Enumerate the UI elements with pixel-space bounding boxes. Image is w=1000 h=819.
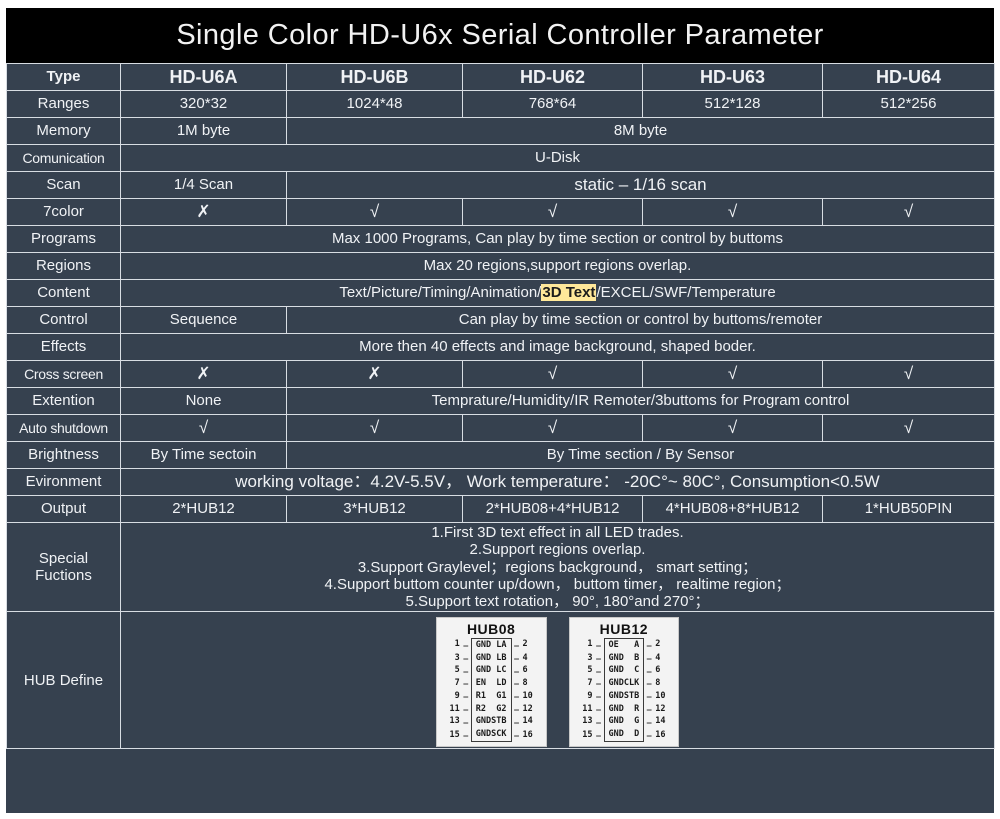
hub12-pin-num-right: 4 [654,654,672,664]
hub12-lead-right-icon: — [644,641,654,650]
cell-brightness-first: By Time sectoin [121,442,287,469]
cell-cross-1: ✗ [287,361,463,388]
table-row-content: Content Text/Picture/Timing/Animation/3D… [7,280,995,307]
hub12-signal-right: G [624,716,644,729]
cell-programs-all: Max 1000 Programs, Can play by time sect… [121,226,995,253]
table-row-scan: Scan 1/4 Scan static – 1/16 scan [7,172,995,199]
hub12-pin-num-right: 8 [654,679,672,689]
table-row-cross-screen: Cross screen ✗ ✗ √ √ √ [7,361,995,388]
hub08-lead-right-icon: — [512,692,522,701]
row-label-brightness: Brightness [7,442,121,469]
row-label-extention: Extention [7,388,121,415]
table-row-auto-shutdown: Auto shutdown √ √ √ √ √ [7,415,995,442]
hub08-pin-num-right: 12 [522,705,540,715]
hub12-title: HUB12 [600,621,648,637]
hub12-signal-left: GND [604,665,624,678]
cell-control-rest: Can play by time section or control by b… [287,307,995,334]
hub08-pin-num-right: 6 [522,666,540,676]
cell-cross-3: √ [643,361,823,388]
cell-comunication-all: U-Disk [121,145,995,172]
hub08-lead-left-icon: — [461,718,471,727]
cell-cross-4: √ [823,361,995,388]
hub08-signal-right: SCK [491,729,511,743]
hub08-pin-num-right: 8 [522,679,540,689]
hub08-lead-left-icon: — [461,692,471,701]
hub08-pin-num-left: 13 [443,717,461,727]
table-row-effects: Effects More then 40 effects and image b… [7,334,995,361]
row-label-auto-shutdown: Auto shutdown [7,415,121,442]
hub12-signal-right: B [624,652,644,665]
row-label-cross-screen: Cross screen [7,361,121,388]
table-row-evironment: Evironment working voltage：4.2V-5.5V， Wo… [7,469,995,496]
hub08-signal-left: GND [471,652,491,665]
row-label-ranges: Ranges [7,91,121,118]
row-label-programs: Programs [7,226,121,253]
hub08-signal-right: STB [491,716,511,729]
hub08-lead-left-icon: — [461,667,471,676]
row-label-output: Output [7,496,121,523]
cell-regions-all: Max 20 regions,support regions overlap. [121,253,995,280]
special-line-3: 3.Support Graylevel；regions background， … [124,559,991,576]
hub08-lead-right-icon: — [512,654,522,663]
hub08-pin-num-right: 10 [522,692,540,702]
hub08-lead-left-icon: — [461,705,471,714]
hub08-lead-right-icon: — [512,667,522,676]
hub12-pin-num-right: 12 [654,705,672,715]
table-row-type: Type HD-U6A HD-U6B HD-U62 HD-U63 HD-U64 [7,64,995,91]
hub12-lead-right-icon: — [644,667,654,676]
cell-7color-2: √ [463,199,643,226]
cell-auto-0: √ [121,415,287,442]
hub12-lead-left-icon: — [594,641,604,650]
hub08-pin-num-left: 3 [443,654,461,664]
page-title: Single Color HD-U6x Serial Controller Pa… [176,19,823,52]
cell-7color-4: √ [823,199,995,226]
table-row-programs: Programs Max 1000 Programs, Can play by … [7,226,995,253]
hub08-pin-num-left: 5 [443,666,461,676]
hub12-signal-left: GND [604,716,624,729]
hub08-title: HUB08 [467,621,515,637]
hub12-signal-left: GND [604,652,624,665]
cell-output-4: 1*HUB50PIN [823,496,995,523]
hub12-pin-num-left: 11 [576,705,594,715]
table-row-brightness: Brightness By Time sectoin By Time secti… [7,442,995,469]
row-label-regions: Regions [7,253,121,280]
cell-output-0: 2*HUB12 [121,496,287,523]
table-row-hub-define: HUB Define HUB08 1—GNDLA—2 3—GNDLB—4 5—G… [7,612,995,749]
hub12-lead-right-icon: — [644,731,654,740]
hub-diagrams: HUB08 1—GNDLA—2 3—GNDLB—4 5—GNDLC—6 7—EN… [124,613,991,747]
hub12-pin-num-left: 13 [576,717,594,727]
hub08-signal-left: GND [471,638,491,652]
hub08-signal-right: LC [491,665,511,678]
special-line-1: 1.First 3D text effect in all LED trades… [124,524,991,541]
row-label-hub-define: HUB Define [7,612,121,749]
hub08-signal-right: LD [491,678,511,691]
hub08-signal-left: GND [471,665,491,678]
cell-control-first: Sequence [121,307,287,334]
hub12-pin-grid: 1—OEA—2 3—GNDB—4 5—GNDC—6 7—GNDCLK—8 9—G… [576,638,673,742]
hub12-pin-num-right: 2 [654,640,672,650]
hub08-lead-right-icon: — [512,679,522,688]
hub08-pin-num-right: 4 [522,654,540,664]
hub08-signal-right: G2 [491,703,511,716]
special-label-line2: Fuctions [10,567,117,584]
content-prefix: Text/Picture/Timing/Animation/ [339,284,541,301]
hub08-lead-right-icon: — [512,705,522,714]
hub08-pin-num-left: 15 [443,731,461,741]
hub08-signal-right: G1 [491,690,511,703]
hub08-lead-right-icon: — [512,641,522,650]
table-row-ranges: Ranges 320*32 1024*48 768*64 512*128 512… [7,91,995,118]
table-row-special-fuctions: Special Fuctions 1.First 3D text effect … [7,523,995,612]
cell-type-1: HD-U6B [287,64,463,91]
cell-ranges-4: 512*256 [823,91,995,118]
row-label-7color: 7color [7,199,121,226]
hub12-signal-right: C [624,665,644,678]
content-suffix: /EXCEL/SWF/Temperature [596,284,775,301]
cell-special-fuctions: 1.First 3D text effect in all LED trades… [121,523,995,612]
hub12-pin-num-right: 14 [654,717,672,727]
cell-auto-2: √ [463,415,643,442]
row-label-special-fuctions: Special Fuctions [7,523,121,612]
hub08-pin-num-right: 2 [522,640,540,650]
hub12-signal-left: GND [604,690,624,703]
hub08-signal-left: GND [471,729,491,743]
cell-cross-2: √ [463,361,643,388]
cell-type-0: HD-U6A [121,64,287,91]
cell-7color-3: √ [643,199,823,226]
cell-scan-rest: static – 1/16 scan [287,172,995,199]
cell-extention-rest: Temprature/Humidity/IR Remoter/3buttoms … [287,388,995,415]
table-row-memory: Memory 1M byte 8M byte [7,118,995,145]
cell-cross-0: ✗ [121,361,287,388]
cell-memory-rest: 8M byte [287,118,995,145]
hub08-diagram: HUB08 1—GNDLA—2 3—GNDLB—4 5—GNDLC—6 7—EN… [436,617,547,747]
cell-output-1: 3*HUB12 [287,496,463,523]
hub12-signal-left: GND [604,703,624,716]
hub08-pin-num-right: 14 [522,717,540,727]
hub12-lead-left-icon: — [594,718,604,727]
hub12-pin-num-left: 15 [576,731,594,741]
hub08-pin-num-left: 1 [443,640,461,650]
cell-scan-first: 1/4 Scan [121,172,287,199]
hub12-signal-right: A [624,638,644,652]
cell-memory-first: 1M byte [121,118,287,145]
hub12-pin-num-left: 9 [576,692,594,702]
cell-output-3: 4*HUB08+8*HUB12 [643,496,823,523]
hub12-diagram: HUB12 1—OEA—2 3—GNDB—4 5—GNDC—6 7—GNDCLK… [569,617,680,747]
hub08-lead-right-icon: — [512,731,522,740]
hub12-pin-num-left: 3 [576,654,594,664]
hub08-signal-right: LA [491,638,511,652]
hub12-lead-left-icon: — [594,731,604,740]
cell-type-3: HD-U63 [643,64,823,91]
cell-ranges-2: 768*64 [463,91,643,118]
hub08-signal-left: R1 [471,690,491,703]
cell-hub-define: HUB08 1—GNDLA—2 3—GNDLB—4 5—GNDLC—6 7—EN… [121,612,995,749]
row-label-memory: Memory [7,118,121,145]
hub08-pin-num-right: 16 [522,731,540,741]
hub12-signal-right: CLK [624,678,644,691]
hub12-pin-num-left: 7 [576,679,594,689]
hub12-signal-right: R [624,703,644,716]
cell-extention-first: None [121,388,287,415]
title-bar: Single Color HD-U6x Serial Controller Pa… [6,8,994,63]
hub08-lead-left-icon: — [461,654,471,663]
spec-frame: Single Color HD-U6x Serial Controller Pa… [6,8,994,813]
special-line-4: 4.Support buttom counter up/down， buttom… [124,576,991,593]
hub08-signal-left: R2 [471,703,491,716]
hub12-pin-num-left: 1 [576,640,594,650]
cell-7color-1: √ [287,199,463,226]
spec-sheet: Single Color HD-U6x Serial Controller Pa… [0,0,1000,819]
hub12-pin-num-left: 5 [576,666,594,676]
hub12-lead-right-icon: — [644,679,654,688]
row-label-scan: Scan [7,172,121,199]
hub12-signal-left: GND [604,729,624,743]
hub08-lead-right-icon: — [512,718,522,727]
row-label-effects: Effects [7,334,121,361]
special-line-5: 5.Support text rotation， 90°, 180°and 27… [124,593,991,610]
hub12-lead-right-icon: — [644,654,654,663]
hub08-signal-left: EN [471,678,491,691]
cell-effects-all: More then 40 effects and image backgroun… [121,334,995,361]
cell-ranges-3: 512*128 [643,91,823,118]
hub12-pin-num-right: 16 [654,731,672,741]
cell-type-4: HD-U64 [823,64,995,91]
table-row-output: Output 2*HUB12 3*HUB12 2*HUB08+4*HUB12 4… [7,496,995,523]
hub12-signal-left: GND [604,678,624,691]
hub08-pin-num-left: 11 [443,705,461,715]
content-highlight-3d-text: 3D Text [541,284,596,301]
hub08-pin-num-left: 7 [443,679,461,689]
cell-ranges-1: 1024*48 [287,91,463,118]
hub12-pin-num-right: 6 [654,666,672,676]
row-label-comunication: Comunication [7,145,121,172]
hub12-lead-left-icon: — [594,692,604,701]
hub08-lead-left-icon: — [461,731,471,740]
table-row-control: Control Sequence Can play by time sectio… [7,307,995,334]
cell-auto-3: √ [643,415,823,442]
table-row-regions: Regions Max 20 regions,support regions o… [7,253,995,280]
hub12-lead-right-icon: — [644,705,654,714]
hub12-pin-num-right: 10 [654,692,672,702]
cell-ranges-0: 320*32 [121,91,287,118]
hub08-pin-grid: 1—GNDLA—2 3—GNDLB—4 5—GNDLC—6 7—ENLD—8 9… [443,638,540,742]
cell-evironment-all: working voltage：4.2V-5.5V， Work temperat… [121,469,995,496]
row-label-control: Control [7,307,121,334]
hub12-signal-right: D [624,729,644,743]
hub08-pin-num-left: 9 [443,692,461,702]
table-row-comunication: Comunication U-Disk [7,145,995,172]
cell-output-2: 2*HUB08+4*HUB12 [463,496,643,523]
cell-7color-0: ✗ [121,199,287,226]
cell-content-all: Text/Picture/Timing/Animation/3D Text/EX… [121,280,995,307]
table-row-7color: 7color ✗ √ √ √ √ [7,199,995,226]
special-label-line1: Special [10,550,117,567]
hub12-signal-left: OE [604,638,624,652]
hub12-lead-right-icon: — [644,718,654,727]
cell-brightness-rest: By Time section / By Sensor [287,442,995,469]
hub08-lead-left-icon: — [461,679,471,688]
hub12-lead-left-icon: — [594,654,604,663]
cell-type-2: HD-U62 [463,64,643,91]
hub12-signal-right: STB [624,690,644,703]
hub12-lead-left-icon: — [594,667,604,676]
row-label-evironment: Evironment [7,469,121,496]
hub12-lead-right-icon: — [644,692,654,701]
cell-auto-1: √ [287,415,463,442]
special-line-2: 2.Support regions overlap. [124,541,991,558]
row-label-type: Type [7,64,121,91]
hub12-lead-left-icon: — [594,679,604,688]
row-label-content: Content [7,280,121,307]
hub12-lead-left-icon: — [594,705,604,714]
hub08-signal-right: LB [491,652,511,665]
hub08-lead-left-icon: — [461,641,471,650]
table-row-extention: Extention None Temprature/Humidity/IR Re… [7,388,995,415]
hub08-signal-left: GND [471,716,491,729]
cell-auto-4: √ [823,415,995,442]
specification-table: Type HD-U6A HD-U6B HD-U62 HD-U63 HD-U64 … [6,63,995,749]
